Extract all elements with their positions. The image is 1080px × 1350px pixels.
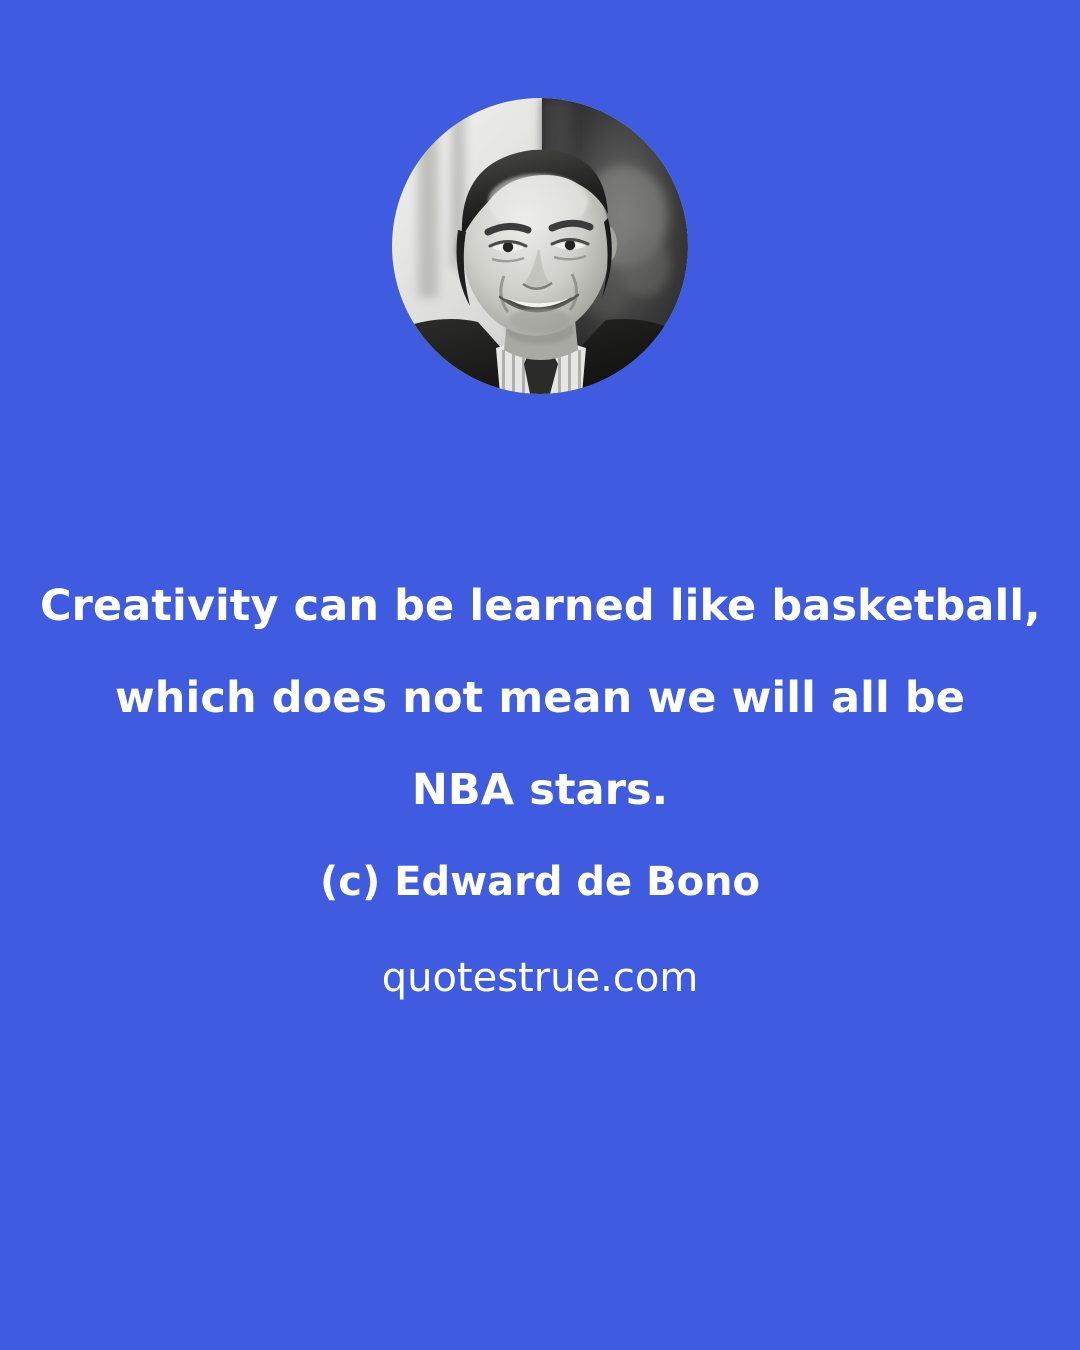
quote-line-3: NBA stars. [40, 744, 1040, 836]
avatar [392, 98, 688, 394]
quote-author: (c) Edward de Bono [40, 836, 1040, 928]
quote-text-block: Creativity can be learned like basketbal… [0, 560, 1080, 1028]
source-website: quotestrue.com [40, 928, 1040, 1028]
portrait-container [392, 98, 688, 394]
quote-card: Creativity can be learned like basketbal… [0, 0, 1080, 1350]
quote-line-1: Creativity can be learned like basketbal… [40, 560, 1040, 652]
quote-line-2: which does not mean we will all be [40, 652, 1040, 744]
